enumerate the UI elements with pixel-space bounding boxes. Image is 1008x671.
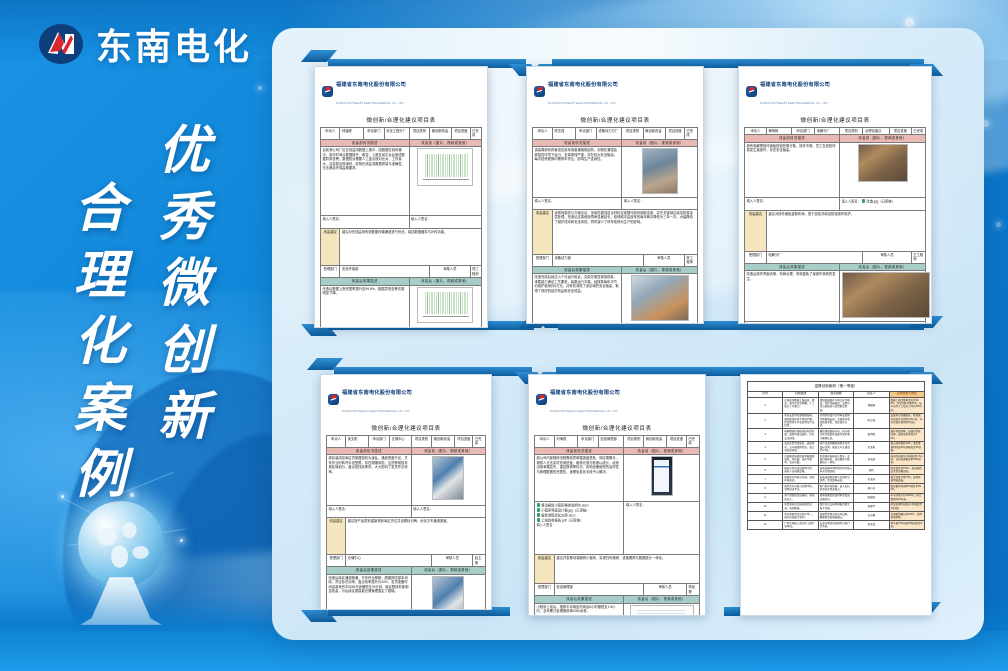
after-text: 改造后数据上报完整率提升至99.8%，数据异常告警次数明显下降。 [321, 285, 410, 328]
section-before-media-header: 改善前（图片、视频或其他） [624, 447, 700, 454]
meta-value: 设备动力分厂 [596, 128, 621, 140]
cell-effect: 账实相符率由86%提升至99.5%。 [889, 484, 924, 493]
dept-label: 受理部门 [535, 584, 555, 596]
cell-owner: 林小芳 [854, 484, 889, 493]
content-row: 改造完成后经过六个月运行验证，支架无明显锈蚀现象，承载能力满足工艺要求，装置运行… [533, 274, 698, 324]
attachment-icon [862, 199, 865, 203]
section-header-row: 改善前情况描述 改善前（图片、视频或其他） [535, 447, 700, 454]
section-header-row: 改善前情况描述 改善前（图片、视频或其他） [533, 139, 698, 146]
chevron-decoration [306, 610, 511, 623]
content-row: 原包装成品库区货架摆放较为凌乱，通道宽度不足，叉车作业时转弯半径受限，存在剐蹭风… [327, 455, 486, 506]
cell-action: 安装车牌识别道闸并对接门禁系统。 [818, 520, 853, 529]
chevron-decoration [506, 358, 536, 371]
signature-row: 填入人签名： 填入人签名： [321, 216, 482, 229]
section-after-header: 改善后效果描述 [533, 266, 622, 273]
cell-effect: 关键报警确认率100%，漏判情况消除。 [889, 511, 924, 520]
reviewer-value: 郑工程师 [470, 266, 481, 278]
cell-no: 5 [748, 453, 783, 465]
doc-company-name-en: FUJIAN SOUTHEAST ELECTROCHEMICAL CO., LT… [550, 410, 618, 413]
suggestion-row: 改善建议 经现场勘查与方案论证，采用防腐蚀复合材料支架替代原有钢制支架，并在关键… [533, 209, 698, 254]
section-header-row: 改善后效果描述 改善后（图片、视频或其他） [745, 263, 926, 270]
document-card[interactable]: 福建省东南电化股份有限公司 FUJIAN SOUTHEAST ELECTROCH… [528, 374, 706, 616]
brand-name: 东南电化 [96, 18, 252, 70]
cell-problem: 中控室报警声光提示单一，操作员易疲劳漏判。 [783, 511, 818, 520]
section-after-header: 改善后效果描述 [327, 567, 412, 574]
after-text: 小程序上线后，报修平均响应时间由8小时缩短至1.5小时，全年累计处理报修单230… [535, 603, 624, 616]
section-after-media-header: 改善后（图片、视频或其他） [411, 567, 485, 574]
meta-value: 已完成 [911, 128, 925, 135]
table-row: 10 化验室样品交接无规范记录，追溯困难。 制定样品交接单模板并建立电子台账。 … [748, 502, 925, 511]
reviewer-value: 李经理 [686, 584, 699, 596]
attachment-row: 填入人签名： 面板改造前后对比.jpg（已审核） [745, 322, 926, 324]
suggestion-row: 改善建议 建议按产品类别重新规划库区货位并设置标识牌，优化叉车通道宽度。 [327, 518, 486, 555]
suggestion-text: 建议对操作面板重新布局，按于巡检并增加防误操作保护。 [766, 210, 925, 251]
meta-label: 申请人 [321, 128, 340, 140]
section-after-media-header: 改善后（图片、视频或其他） [622, 266, 698, 273]
cell-owner: 张丽华 [854, 502, 889, 511]
signer-label: 填入人签名： [533, 197, 622, 209]
section-before-header: 改善前情况描述 [321, 139, 410, 146]
suggestion-text: 建议对在线监测系统数据传输通道进行优化，增加数据缓存与补传功能。 [340, 229, 482, 266]
cell-no: 11 [748, 511, 783, 520]
cell-problem: 原料卸车区粉尘外逸，现场环境较差。 [783, 475, 818, 484]
cell-effect: 年节约蒸汽约1200吨，折合费用约26万元。 [889, 493, 924, 502]
section-before-header: 改善前情况描述 [533, 139, 622, 146]
meta-row: 申请人 林建峰 申请部门 安全工程分厂 项目类别 微创新改善 项目进度 已完成 [321, 128, 482, 140]
cell-effect: 粉尘浓度下降70%，现场环境明显改善。 [889, 475, 924, 484]
meta-label: 申请部门 [369, 436, 390, 448]
suggestion-row: 改善建议 建议对操作面板重新布局，按于巡检并增加防误操作保护。 [745, 210, 926, 251]
meta-value: 黄明辉 [766, 128, 791, 135]
after-text: 改造后库区通道畅通，叉车作业顺畅，剐蹭风险基本消除，货位标识清晰，盘点效率提升约… [327, 574, 412, 610]
company-logo-icon [322, 86, 333, 97]
content-row: 原公司内部报修流程需纸质单据逐级签批，响应周期长，报修人无法实时查询进度，维修记… [535, 455, 700, 502]
doc-title: 微创新/合理化建议项目表 [326, 420, 486, 435]
cell-problem: 管道支架为普通钢制结构，潮湿腐蚀环境下锈蚀严重，检修需停车作业影响生产连续性。 [783, 413, 818, 429]
table-row: 2 管道支架为普通钢制结构，潮湿腐蚀环境下锈蚀严重，检修需停车作业影响生产连续性… [748, 413, 925, 429]
chevron-decoration [312, 358, 512, 371]
summary-document-card[interactable]: 温情创新案例（第一季度） 序号 问题描述 改善措施 责任人 实施效果与效益 1 … [740, 374, 932, 616]
headline-column-right: 优秀微创新 [136, 118, 232, 451]
content-row: 改造后数据上报完整率提升至99.8%，数据异常告警次数明显下降。 [321, 285, 482, 328]
cell-effect: 操作界面清晰，误操作事故归零，巡检效率提升约30%。 [889, 429, 924, 441]
summary-title: 温情创新案例（第一季度） [748, 382, 925, 392]
dept-label: 受理部门 [745, 251, 767, 263]
doc-logo-header: 福建省东南电化股份有限公司 FUJIAN SOUTHEAST ELECTROCH… [320, 71, 482, 112]
meta-label: 项目进度 [452, 128, 470, 140]
cell-action: 重新规划面板布局，按功能分区并增加防误操作保护罩与醒目标识。 [818, 429, 853, 441]
meta-value: 林建峰 [340, 128, 363, 140]
meta-value: 仓储中心 [389, 436, 411, 448]
meta-value: 电解分厂 [815, 128, 840, 135]
attachment-row: 填入人签名： 填入人签名： 改造.jpg（已审核） [745, 197, 926, 210]
cell-problem: 成品库区货架凌乱，通道狭窄，叉车剐蹭风险高，盘点查找效率低。 [783, 441, 818, 453]
section-header-row: 改善前情况描述 改善前（图片、视频或其他） [745, 135, 926, 142]
before-media [411, 455, 485, 506]
doc-logo-header: 福建省东南电化股份有限公司 FUJIAN SOUTHEAST ELECTROCH… [744, 71, 926, 112]
document-card[interactable]: 福建省东南电化股份有限公司 FUJIAN SOUTHEAST ELECTROCH… [320, 374, 492, 610]
chevron-decoration [306, 50, 506, 63]
signer-label: 填入人签名： [409, 216, 481, 229]
after-text: 改造后操作界面清晰、布局合理，有效避免了误操作事故的发生。 [745, 271, 840, 322]
cell-action: 制定样品交接单模板并建立电子台账。 [818, 502, 853, 511]
chevron-decoration [728, 50, 943, 63]
attachment-icon [537, 503, 540, 507]
reviewer-label: 审核人员 [643, 254, 684, 266]
attachment-icon [537, 518, 540, 522]
before-text: 原有电解槽操作面板按钮布置分散，操作不便，员工在巡检时易发生误操作，存在安全隐患… [745, 142, 840, 197]
form-table: 申请人 黄明辉 申请部门 电解分厂 项目类别 合理化建议 项目进度 已完成 改善… [744, 127, 926, 324]
suggestion-label: 改善建议 [321, 229, 340, 266]
content-row: 改造后库区通道畅通，叉车作业顺畅，剐蹭风险基本消除，货位标识清晰，盘点效率提升约… [327, 574, 486, 610]
after-media [622, 274, 698, 324]
phone-screenshot-image [651, 456, 673, 496]
meta-value: 刘海燕 [554, 436, 577, 448]
reviewer-value: 林工程师 [684, 254, 697, 266]
bokeh-dot [258, 86, 262, 90]
before-media [840, 142, 926, 197]
meta-label: 申请人 [535, 436, 555, 448]
meta-value: 陈志强 [552, 128, 575, 140]
section-header-row: 改善后效果描述 改善后（图片、视频或其他） [327, 567, 486, 574]
company-logo-icon [536, 394, 547, 405]
suggestion-label: 改善建议 [533, 209, 553, 254]
attachment-icon [537, 513, 540, 517]
section-after-header: 改善后效果描述 [321, 278, 410, 285]
suggestion-text: 建议开发移动端报修小程序，实现扫码报修、进度跟踪与数据统计一体化。 [554, 555, 699, 584]
meta-row: 申请人 黄明辉 申请部门 电解分厂 项目类别 合理化建议 项目进度 已完成 [745, 128, 926, 135]
company-logo-icon [746, 86, 757, 97]
cell-action: 开发移动端报修小程序，实现扫码报修、进度跟踪与数据统计一体化。 [818, 453, 853, 465]
chevron-decoration [538, 358, 746, 371]
meta-label: 申请人 [327, 436, 346, 448]
after-media [409, 285, 481, 328]
photo-image [432, 576, 464, 610]
section-header-row: 改善后效果描述 改善后（图片、视频或其他） [533, 266, 698, 273]
section-after-header: 改善后效果描述 [535, 596, 624, 603]
meta-value: 合理化建议 [863, 128, 889, 135]
cell-no: 8 [748, 484, 783, 493]
chevron-decoration [508, 324, 538, 337]
section-before-media-header: 改善前（图片、视频或其他） [409, 139, 481, 146]
meta-label: 项目类别 [409, 128, 430, 140]
attachment-list[interactable]: 填入人签名： 改造.jpg（已审核） [840, 197, 926, 210]
meta-label: 申请人 [533, 128, 553, 140]
section-before-media-header: 改善前（图片、视频或其他） [622, 139, 698, 146]
attachment-name[interactable]: 小程序界面设计稿.jpg（已审核） [541, 509, 589, 513]
after-text: 改造完成后经过六个月运行验证，支架无明显锈蚀现象，承载能力满足工艺要求，装置运行… [533, 274, 622, 324]
content-row: 小程序上线后，报修平均响应时间由8小时缩短至1.5小时，全年累计处理报修单230… [535, 603, 700, 616]
dept-row: 受理部门 电解分厂 审核人员 王工程师 [745, 251, 926, 263]
photo-image [432, 456, 464, 500]
doc-company-name: 福建省东南电化股份有限公司 [548, 82, 618, 88]
meta-value: 吴文彬 [346, 436, 369, 448]
dept-label: 受理部门 [327, 555, 346, 567]
doc-title: 微创新/合理化建议项目表 [320, 112, 482, 127]
cell-effect: 数据上报完整率提升至99.8%，告警次数下降85%，每年节约人工核对工时约320… [889, 398, 924, 414]
attachment-list[interactable]: 移动报修小程序需求说明书.docx 小程序界面设计稿.jpg（已审核） 报修流程… [535, 502, 624, 555]
meta-label: 项目类别 [624, 436, 644, 448]
meta-label: 项目进度 [455, 436, 473, 448]
reviewer-label: 审核人员 [432, 555, 473, 567]
globe-sphere [78, 501, 164, 587]
before-media [622, 147, 698, 197]
section-header-row: 改善前情况描述 改善前（图片、视频或其他） [327, 447, 486, 454]
reviewer-label: 审核人员 [644, 584, 687, 596]
table-row: 5 内部报修依赖纸质单据逐级签批，响应慢、进度不透明、记录分散。 开发移动端报修… [748, 453, 925, 465]
attachment-name[interactable]: 改造.jpg（已审核） [866, 199, 894, 203]
attachment-row: 移动报修小程序需求说明书.docx 小程序界面设计稿.jpg（已审核） 报修流程… [535, 502, 700, 555]
section-after-media-header: 改善后（图片、视频或其他） [624, 596, 700, 603]
document-card[interactable]: 福建省东南电化股份有限公司 FUJIAN SOUTHEAST ELECTROCH… [738, 66, 932, 324]
cell-action: 推行条码化管理，出入库扫码登记并月度盘点。 [818, 484, 853, 493]
dept-value: 安全环保部 [340, 266, 430, 278]
cell-no: 1 [748, 398, 783, 414]
photo-image [842, 272, 930, 318]
form-table: 申请人 刘海燕 申请部门 信息管理部 项目类别 微创新改善 项目进度 已完成 改… [534, 435, 700, 616]
brand-bar: 东南电化 [38, 18, 252, 70]
cell-action: 按报警等级分色分声设置，重要报警加弹窗确认。 [818, 511, 853, 520]
cell-problem: 电解槽操作面板按钮布置分散，巡检时易误操作，存在安全隐患。 [783, 429, 818, 441]
table-row: 8 备件库存台账与实物不符，领用记录不全。 推行条码化管理，出入库扫码登记并月度… [748, 484, 925, 493]
cell-owner: 刘海燕 [854, 453, 889, 465]
dept-value: 信息管理部 [554, 584, 643, 596]
content-row: 改造后操作界面清晰、布局合理，有效避免了误操作事故的发生。 [745, 271, 926, 322]
cell-owner: 郑伟 [854, 466, 889, 475]
cell-no: 7 [748, 475, 783, 484]
after-media [411, 574, 485, 610]
meta-value: 微创新改善 [432, 436, 455, 448]
doc-title: 微创新/合理化建议项目表 [532, 112, 698, 127]
doc-company-name: 福建省东南电化股份有限公司 [760, 82, 830, 88]
signer-label: 填入人签名： [745, 197, 840, 210]
chevron-decoration [730, 358, 944, 371]
chevron-decoration [728, 324, 943, 337]
signer-label: 填入人签名： [321, 216, 410, 229]
doc-title: 微创新/合理化建议项目表 [744, 112, 926, 127]
meta-row: 申请人 吴文彬 申请部门 仓储中心 项目类别 微创新改善 项目进度 已完成 [327, 436, 486, 448]
before-text: 目前我公司厂区在线监测数据上报中，因数据在线传输中，部分时间点数据缺失、跳变，上… [321, 147, 410, 216]
meta-row: 申请人 刘海燕 申请部门 信息管理部 项目类别 微创新改善 项目进度 已完成 [535, 436, 700, 448]
suggestion-row: 改善建议 建议开发移动端报修小程序，实现扫码报修、进度跟踪与数据统计一体化。 [535, 555, 700, 584]
summary-title-row: 温情创新案例（第一季度） [748, 382, 925, 392]
chevron-decoration [534, 50, 744, 63]
cell-action: 加装局部密闭罩与布袋除尘装置，优化卸料速度。 [818, 475, 853, 484]
doc-title: 微创新/合理化建议项目表 [534, 420, 700, 435]
cell-owner: 许志鹏 [854, 511, 889, 520]
document-card[interactable]: 福建省东南电化股份有限公司 FUJIAN SOUTHEAST ELECTROCH… [526, 66, 704, 324]
before-text: 原包装成品库区货架摆放较为凌乱，通道宽度不足，叉车作业时转弯半径受限，存在剐蹭风… [327, 455, 412, 506]
bokeh-dot [996, 222, 1001, 227]
reviewer-value: 赵主管 [473, 555, 486, 567]
section-after-media-header: 改善后（图片、视频或其他） [409, 278, 481, 285]
before-text: 该装置原有的管道支架采用普通钢制结构，长期在潮湿及腐蚀性环境下运行，支架锈蚀严重… [533, 147, 622, 197]
doc-company-name-en: FUJIAN SOUTHEAST ELECTROCHEMICAL CO., LT… [548, 102, 616, 105]
suggestion-label: 改善建议 [745, 210, 767, 251]
document-card[interactable]: 福建省东南电化股份有限公司 FUJIAN SOUTHEAST ELECTROCH… [314, 66, 488, 328]
before-text: 原公司内部报修流程需纸质单据逐级签批，响应周期长，报修人无法实时查询进度，维修记… [535, 455, 624, 502]
headline-column-left: 合理化案例 [52, 176, 148, 509]
content-row: 原有电解槽操作面板按钮布置分散，操作不便，员工在巡检时易发生误操作，存在安全隐患… [745, 142, 926, 197]
meta-label: 项目进度 [889, 128, 911, 135]
cell-no: 2 [748, 413, 783, 429]
cell-action: 加装防爆LED照明灯具并接入声光控制回路。 [818, 466, 853, 475]
cell-owner: 吴文彬 [854, 441, 889, 453]
attachment-icon [842, 323, 845, 324]
cell-effect: 盘点效率提升40%，发货准备时间由45分钟缩短至25分钟。 [889, 441, 924, 453]
photo-image [858, 144, 908, 182]
signature-row: 填入人签名： 填入人签名： [533, 197, 698, 209]
meta-value: 已完成 [470, 128, 481, 140]
cell-owner: 林建峰 [854, 398, 889, 414]
attachment-name[interactable]: 移动报修小程序需求说明书.docx [541, 504, 588, 508]
signature-row: 填入人签名： 填入人签名： [327, 506, 486, 518]
table-row: 1 在线监测数据上报缺失、跳变，省平台告警频繁，人工核对工作量大。 增加数据缓存… [748, 398, 925, 414]
photo-image [642, 148, 678, 194]
meta-value: 已完成 [473, 436, 486, 448]
attachment-list[interactable]: 面板改造前后对比.jpg（已审核） [840, 322, 926, 324]
signer-label: 填入人签名： [411, 506, 485, 518]
cell-effect: 照度提升至150lx，夜间巡检安全性显著提高。 [889, 466, 924, 475]
photo-image [631, 275, 689, 321]
meta-label: 项目类别 [411, 436, 432, 448]
suggestion-text: 经现场勘查与方案论证，采用防腐蚀复合材料支架替代原有钢制支架，并在关键部位增加防… [552, 209, 697, 254]
meta-value: 微创新改善 [430, 128, 452, 140]
table-row: 11 中控室报警声光提示单一，操作员易疲劳漏判。 按报警等级分色分声设置，重要报… [748, 511, 925, 520]
attachment-icon [537, 508, 540, 512]
cell-action: 增加数据缓存与断点补传模块，优化传输通道，设置异常自动校验与告警推送机制。 [818, 398, 853, 414]
signer-label: 填入人签名： [624, 502, 700, 555]
reviewer-label: 审核人员 [863, 251, 911, 263]
cell-no: 4 [748, 441, 783, 453]
form-table: 申请人 林建峰 申请部门 安全工程分厂 项目类别 微创新改善 项目进度 已完成 … [320, 127, 482, 328]
cell-action: 更换硅酸铝保温材料并加装金属外护。 [818, 493, 853, 502]
cell-owner: 黄明辉 [854, 429, 889, 441]
section-after-media-header: 改善后（图片、视频或其他） [840, 263, 926, 270]
cell-effect: 支架寿命显著延长，检修频次由每年2次降为3年1次，年节约维护费用约8万元。 [889, 413, 924, 429]
cell-owner: 周文斌 [854, 520, 889, 529]
doc-company-name-en: FUJIAN SOUTHEAST ELECTROCHEMICAL CO., LT… [760, 102, 828, 105]
meta-value: 信息管理部 [598, 436, 623, 448]
signer-label: 填入人签名： [842, 199, 861, 203]
cell-problem: 蒸汽管线保温层破损，热损失较大。 [783, 493, 818, 502]
company-logo-icon [534, 86, 545, 97]
cell-effect: 响应时间由8小时缩短至1.5小时，全年处理报修单2300余条。 [889, 453, 924, 465]
signer-label: 填入人签名： [622, 197, 698, 209]
chart-image [417, 148, 473, 186]
doc-company-name-en: FUJIAN SOUTHEAST ELECTROCHEMICAL CO., LT… [336, 102, 404, 105]
form-table: 申请人 陈志强 申请部门 设备动力分厂 项目类别 微创新改善 项目进度 已完成 … [532, 127, 698, 324]
cell-problem: 备件库存台账与实物不符，领用记录不全。 [783, 484, 818, 493]
doc-company-name: 福建省东南电化股份有限公司 [342, 390, 412, 396]
cell-no: 3 [748, 429, 783, 441]
table-row: 4 成品库区货架凌乱，通道狭窄，叉车剐蹭风险高，盘点查找效率低。 按产品类别重新… [748, 441, 925, 453]
chevron-decoration [500, 50, 530, 63]
table-row: 6 循环水泵房夜间照明不足，巡检人员视线受限。 加装防爆LED照明灯具并接入声光… [748, 466, 925, 475]
cell-problem: 内部报修依赖纸质单据逐级签批，响应慢、进度不透明、记录分散。 [783, 453, 818, 465]
cell-no: 12 [748, 520, 783, 529]
document-screenshot-image [630, 605, 694, 616]
dept-row: 受理部门 仓储中心 审核人员 赵主管 [327, 555, 486, 567]
company-logo-icon [38, 21, 84, 67]
meta-label: 项目进度 [666, 436, 686, 448]
meta-label: 申请部门 [791, 128, 814, 135]
meta-value: 微创新改善 [644, 436, 667, 448]
after-media [840, 271, 926, 322]
dept-value: 电解分厂 [766, 251, 863, 263]
meta-value: 已完成 [686, 436, 699, 448]
cell-effect: 单车通行时间由50秒缩短至8秒。 [889, 520, 924, 529]
signer-label: 填入人签名： [327, 506, 412, 518]
section-before-header: 改善前情况描述 [535, 447, 624, 454]
cell-owner: 陈志强 [854, 413, 889, 429]
form-table: 申请人 吴文彬 申请部门 仓储中心 项目类别 微创新改善 项目进度 已完成 改善… [326, 435, 486, 610]
globe-graphic [58, 493, 208, 653]
before-media [409, 147, 481, 216]
doc-company-name: 福建省东南电化股份有限公司 [550, 390, 620, 396]
meta-label: 项目类别 [840, 128, 863, 135]
content-board: 福建省东南电化股份有限公司 FUJIAN SOUTHEAST ELECTROCH… [272, 28, 984, 640]
meta-value: 已完成 [684, 128, 697, 140]
company-logo-icon [328, 394, 339, 405]
summary-table: 温情创新案例（第一季度） 序号 问题描述 改善措施 责任人 实施效果与效益 1 … [747, 381, 925, 530]
section-before-header: 改善前情况描述 [745, 135, 840, 142]
dept-value: 设备动力部 [552, 254, 643, 266]
doc-company-name: 福建省东南电化股份有限公司 [336, 82, 406, 88]
section-before-media-header: 改善前（图片、视频或其他） [411, 447, 485, 454]
network-dot [180, 539, 183, 542]
suggestion-label: 改善建议 [535, 555, 555, 584]
cell-action: 按产品类别重新规划库位并设标识牌，拓宽叉车主通道至3.5米。 [818, 441, 853, 453]
cell-problem: 在线监测数据上报缺失、跳变，省平台告警频繁，人工核对工作量大。 [783, 398, 818, 414]
meta-value: 安全工程分厂 [384, 128, 409, 140]
cell-action: 采用防腐蚀复合材料支架替代原钢制支架，关键部位增加防腐涂层，优化固定方式。 [818, 413, 853, 429]
cell-owner: 王海涛 [854, 475, 889, 484]
reviewer-value: 王工程师 [911, 251, 925, 263]
suggestion-text: 建议按产品类别重新规划库区货位并设置标识牌，优化叉车通道宽度。 [346, 518, 486, 555]
dept-row: 受理部门 信息管理部 审核人员 李经理 [535, 584, 700, 596]
section-after-header: 改善后效果描述 [745, 263, 840, 270]
cell-no: 6 [748, 466, 783, 475]
table-row: 7 原料卸车区粉尘外逸，现场环境较差。 加装局部密闭罩与布袋除尘装置，优化卸料速… [748, 475, 925, 484]
signer-label: 填入人签名： [537, 523, 556, 527]
dept-value: 仓储中心 [346, 555, 432, 567]
cell-owner: 陈建国 [854, 493, 889, 502]
content-row: 目前我公司厂区在线监测数据上报中，因数据在线传输中，部分时间点数据缺失、跳变，上… [321, 147, 482, 216]
meta-label: 项目类别 [622, 128, 643, 140]
headline-block: 合理化案例 优秀微创新 [52, 118, 262, 478]
meta-label: 项目进度 [666, 128, 685, 140]
cell-effect: 样品追溯时间由2小时缩短至10分钟。 [889, 502, 924, 511]
after-media [624, 603, 700, 616]
bokeh-dot [905, 18, 914, 27]
table-row: 3 电解槽操作面板按钮布置分散，巡检时易误操作，存在安全隐患。 重新规划面板布局… [748, 429, 925, 441]
doc-logo-header: 福建省东南电化股份有限公司 FUJIAN SOUTHEAST ELECTROCH… [532, 71, 698, 112]
doc-logo-header: 福建省东南电化股份有限公司 FUJIAN SOUTHEAST ELECTROCH… [534, 379, 700, 420]
chevron-decoration [540, 324, 745, 337]
suggestion-row: 改善建议 建议对在线监测系统数据传输通道进行优化，增加数据缓存与补传功能。 [321, 229, 482, 266]
meta-row: 申请人 陈志强 申请部门 设备动力分厂 项目类别 微创新改善 项目进度 已完成 [533, 128, 698, 140]
meta-value: 微创新改善 [643, 128, 666, 140]
cell-problem: 厂区车辆出入登记手工填写效率低。 [783, 520, 818, 529]
attachment-name[interactable]: 报修流程优化方案.docx [541, 514, 575, 518]
meta-label: 申请人 [745, 128, 767, 135]
dept-label: 受理部门 [533, 254, 553, 266]
signer-label: 填入人签名： [745, 322, 840, 324]
dept-row: 受理部门 设备动力部 审核人员 林工程师 [533, 254, 698, 266]
section-before-header: 改善前情况描述 [327, 447, 412, 454]
before-media [624, 455, 700, 502]
